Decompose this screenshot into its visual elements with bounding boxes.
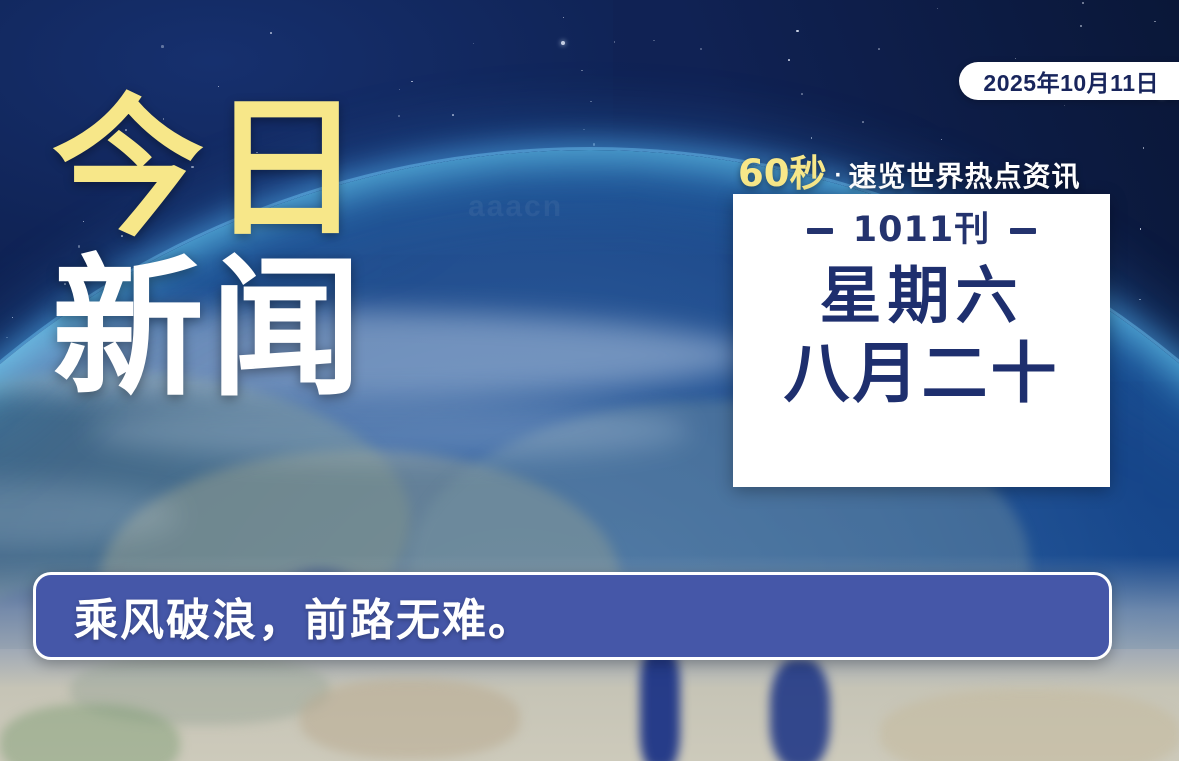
weekday-label: 星期六 [819, 264, 1023, 329]
quote-banner: 乘风破浪，前路无难。 [33, 572, 1112, 660]
star-dot [473, 43, 475, 45]
tagline: 60秒 · 速览世界热点资讯 [738, 143, 1081, 197]
page-title-line1: 今日 [52, 96, 472, 242]
star-dot [593, 143, 596, 146]
star-dot [411, 81, 413, 83]
star-dot [1154, 21, 1156, 23]
star-dot [1064, 105, 1066, 107]
page-title: 今日 新闻 [52, 96, 472, 402]
date-badge: 2025年10月11日 [959, 62, 1179, 100]
star-dot [801, 93, 803, 95]
star-dot [811, 137, 813, 139]
star-dot [788, 59, 790, 61]
terrain-water [640, 649, 680, 761]
star-dot [937, 8, 939, 10]
news-poster: 2025年10月11日 aaacn 今日 新闻 60秒 · 速览世界热点资讯 1… [0, 0, 1179, 761]
terrain-patch [300, 679, 520, 759]
page-title-line2: 新闻 [52, 256, 472, 402]
star-dot [653, 40, 655, 42]
star-dot [1015, 58, 1017, 60]
star-dot [1139, 299, 1141, 301]
tagline-description: 速览世界热点资讯 [849, 155, 1081, 195]
star-dot [796, 30, 799, 33]
star-dot [12, 317, 14, 319]
lunar-date-label: 八月二十 [784, 339, 1060, 408]
star-dot [878, 48, 880, 50]
star-dot [614, 41, 616, 43]
star-dot [1143, 147, 1145, 149]
star-dot [941, 139, 943, 141]
star-dot [590, 101, 592, 103]
star-dot [581, 70, 583, 72]
star-dot [1082, 2, 1085, 5]
issue-number: 1011刊 [853, 213, 990, 248]
terrain-water [770, 659, 830, 761]
star-dot [161, 45, 164, 48]
watermark: aaacn [468, 190, 563, 224]
info-card: 1011刊 星期六 八月二十 [733, 194, 1110, 487]
dash-right-icon [1010, 228, 1036, 234]
issue-row: 1011刊 [807, 213, 1036, 248]
star-dot [1080, 25, 1083, 28]
tagline-separator: · [835, 162, 843, 190]
star-dot [399, 89, 401, 91]
dash-left-icon [807, 228, 833, 234]
quote-text: 乘风破浪，前路无难。 [74, 584, 534, 648]
star-dot [583, 129, 585, 131]
star-dot [700, 48, 703, 51]
star-dot [862, 121, 864, 123]
star-dot [270, 32, 272, 34]
tagline-seconds: 60秒 [738, 143, 827, 197]
terrain-patch [0, 704, 180, 761]
star-dot [1140, 228, 1142, 230]
star-dot [561, 41, 565, 45]
satellite-terrain [0, 649, 1179, 761]
star-dot [563, 17, 565, 19]
terrain-patch [880, 689, 1179, 761]
